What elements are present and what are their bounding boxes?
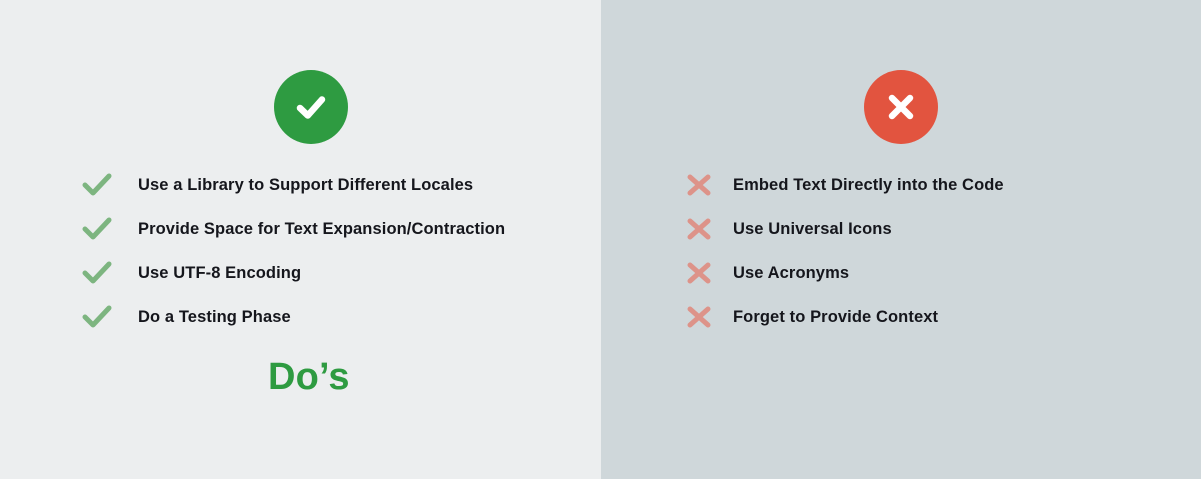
list-item: Provide Space for Text Expansion/Contrac… <box>82 207 505 251</box>
list-item-label: Use UTF-8 Encoding <box>138 264 301 283</box>
list-item: Use Acronyms <box>686 251 1004 295</box>
list-item-label: Do a Testing Phase <box>138 308 291 327</box>
x-circle-icon <box>864 70 938 144</box>
x-icon <box>686 172 720 198</box>
list-item: Use Universal Icons <box>686 207 1004 251</box>
dos-heading: Do’s <box>268 358 350 396</box>
check-icon <box>82 260 116 286</box>
list-item: Embed Text Directly into the Code <box>686 163 1004 207</box>
list-item: Do a Testing Phase <box>82 295 505 339</box>
dos-panel: Use a Library to Support Different Local… <box>0 0 601 479</box>
check-icon <box>82 172 116 198</box>
donts-panel: Embed Text Directly into the Code Use Un… <box>601 0 1201 479</box>
list-item-label: Use Universal Icons <box>733 220 892 239</box>
list-item-label: Embed Text Directly into the Code <box>733 176 1004 195</box>
list-item-label: Forget to Provide Context <box>733 308 938 327</box>
dos-list: Use a Library to Support Different Local… <box>82 163 505 339</box>
x-icon <box>686 304 720 330</box>
dos-and-donts-infographic: Use a Library to Support Different Local… <box>0 0 1201 479</box>
list-item-label: Provide Space for Text Expansion/Contrac… <box>138 220 505 239</box>
list-item: Forget to Provide Context <box>686 295 1004 339</box>
check-circle-icon <box>274 70 348 144</box>
x-icon <box>686 260 720 286</box>
list-item: Use a Library to Support Different Local… <box>82 163 505 207</box>
donts-list: Embed Text Directly into the Code Use Un… <box>686 163 1004 339</box>
check-icon <box>82 304 116 330</box>
check-icon <box>82 216 116 242</box>
list-item-label: Use a Library to Support Different Local… <box>138 176 473 195</box>
x-icon <box>686 216 720 242</box>
list-item: Use UTF-8 Encoding <box>82 251 505 295</box>
list-item-label: Use Acronyms <box>733 264 849 283</box>
